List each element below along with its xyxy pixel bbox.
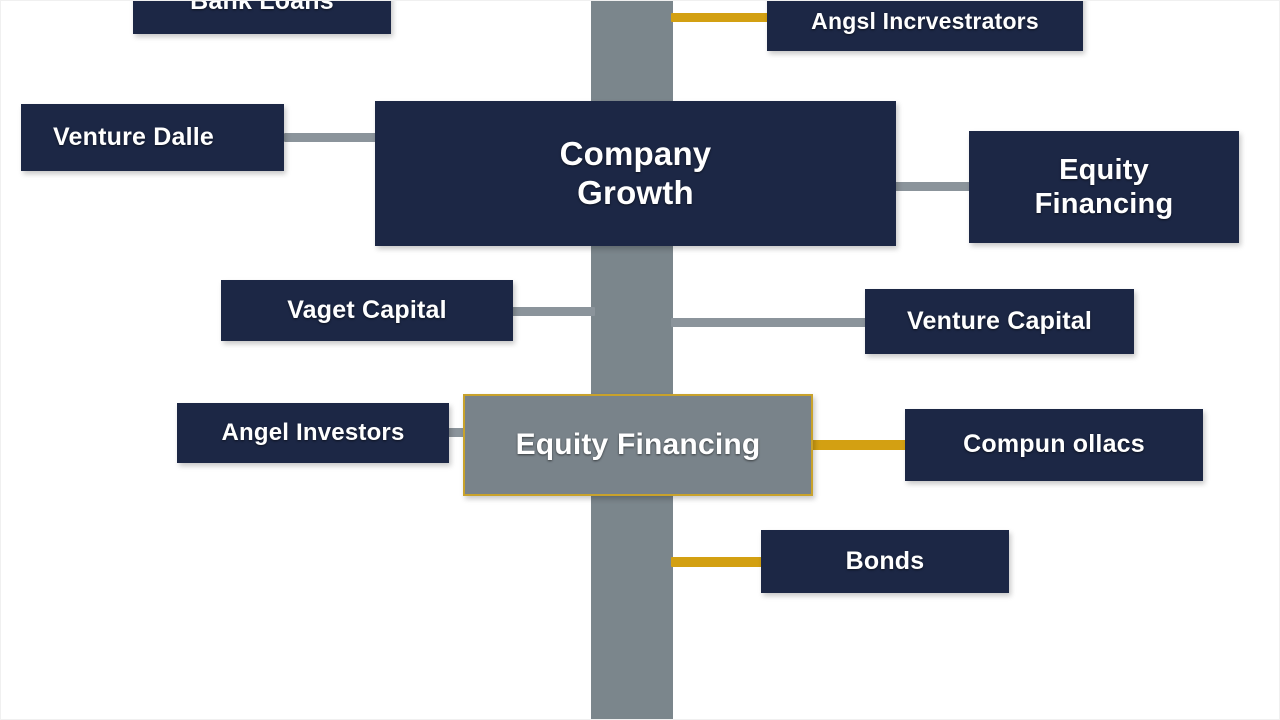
connector-spine-to-angel-investors-top — [671, 13, 769, 22]
node-compun-ollacs-label: Compun ollacs — [919, 430, 1189, 460]
connector-vaget-capital-to-spine — [511, 307, 595, 316]
node-angel-investors[interactable]: Angel Investors — [177, 403, 449, 463]
node-equity-financing-center[interactable]: Equity Financing — [463, 394, 813, 496]
node-vaget-capital-label: Vaget Capital — [235, 296, 499, 326]
node-angel-investors-top-label: Angsl Incrvestrators — [781, 8, 1069, 35]
node-equity-financing-right[interactable]: Equity Financing — [969, 131, 1239, 243]
node-bonds-label: Bonds — [775, 547, 995, 577]
node-company-growth[interactable]: Company Growth — [375, 101, 896, 246]
connector-company-growth-to-equity-financing-right — [894, 182, 972, 191]
node-venture-dalle-label: Venture Dalle — [53, 123, 252, 153]
node-venture-dalle[interactable]: Venture Dalle — [21, 104, 284, 171]
node-bank-loans-label: Bank Loans — [149, 0, 375, 16]
node-venture-capital[interactable]: Venture Capital — [865, 289, 1134, 354]
node-venture-capital-label: Venture Capital — [879, 307, 1120, 337]
connector-equity-financing-center-to-compun-ollacs — [809, 440, 909, 450]
diagram-canvas: Bank Loans Angsl Incrvestrators Venture … — [0, 0, 1280, 720]
node-equity-financing-right-label: Equity Financing — [983, 153, 1225, 221]
node-vaget-capital[interactable]: Vaget Capital — [221, 280, 513, 341]
node-bank-loans[interactable]: Bank Loans — [133, 0, 391, 34]
node-bonds[interactable]: Bonds — [761, 530, 1009, 593]
node-angel-investors-label: Angel Investors — [191, 419, 435, 447]
connector-spine-to-venture-capital — [671, 318, 869, 327]
node-angel-investors-top[interactable]: Angsl Incrvestrators — [767, 0, 1083, 51]
node-equity-financing-center-label: Equity Financing — [481, 427, 795, 462]
node-compun-ollacs[interactable]: Compun ollacs — [905, 409, 1203, 481]
connector-spine-to-bonds — [671, 557, 765, 567]
node-company-growth-label: Company Growth — [395, 135, 876, 213]
connector-venture-dalle-to-company-growth — [284, 133, 379, 142]
